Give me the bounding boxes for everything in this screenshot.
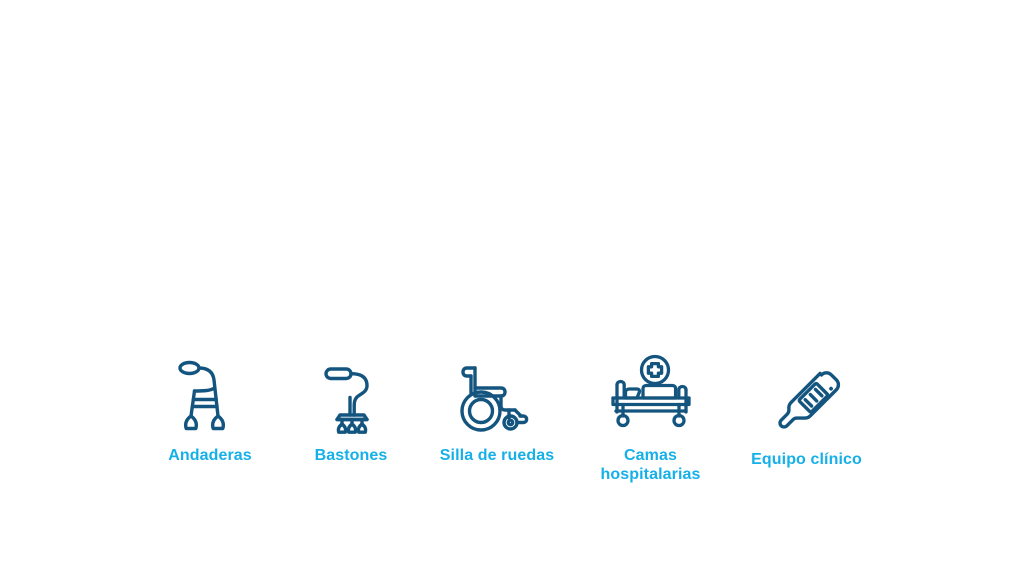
category-strip: Andaderas: [140, 356, 884, 496]
category-label-andaderas: Andaderas: [168, 446, 252, 465]
page-canvas: Andaderas: [0, 0, 1024, 580]
category-item-andaderas[interactable]: Andaderas: [140, 356, 280, 465]
category-item-equipo-clinico[interactable]: Equipo clínico: [729, 362, 884, 469]
category-label-silla-de-ruedas: Silla de ruedas: [440, 446, 554, 465]
thermometer-icon: [769, 362, 845, 442]
walker-icon: [174, 356, 246, 438]
category-label-equipo-clinico: Equipo clínico: [751, 450, 862, 469]
category-item-silla-de-ruedas[interactable]: Silla de ruedas: [422, 360, 572, 465]
category-item-bastones[interactable]: Bastones: [291, 364, 411, 465]
category-label-bastones: Bastones: [315, 446, 388, 465]
hospital-bed-icon: [607, 354, 695, 438]
category-label-camas-hospitalarias: Camas hospitalarias: [600, 446, 700, 484]
wheelchair-icon: [457, 360, 537, 438]
quad-cane-icon: [318, 364, 384, 438]
category-item-camas-hospitalarias[interactable]: Camas hospitalarias: [583, 354, 718, 484]
